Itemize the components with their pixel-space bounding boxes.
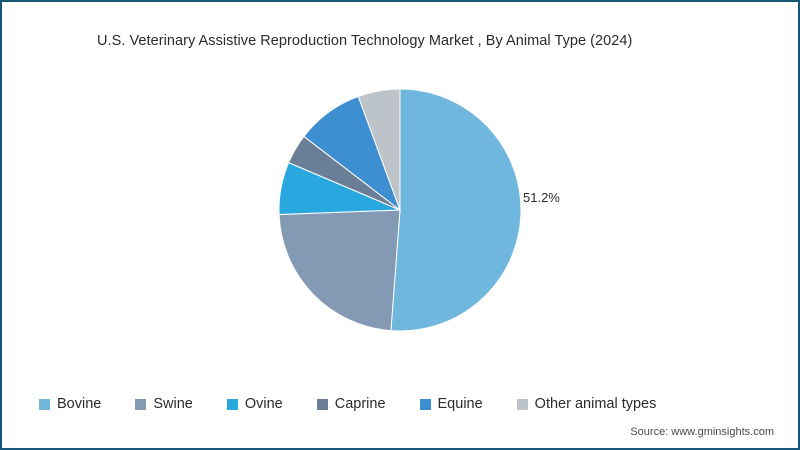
legend-item-label: Caprine [335,396,386,412]
page-title: U.S. Veterinary Assistive Reproduction T… [97,33,737,49]
chart-frame: U.S. Veterinary Assistive Reproduction T… [0,0,800,450]
legend-swatch-icon [39,399,50,410]
legend-item[interactable]: Ovine [227,396,283,412]
pie-slice[interactable] [391,89,521,331]
pie-chart-svg [279,89,521,331]
legend-swatch-icon [227,399,238,410]
legend-item-label: Bovine [57,396,101,412]
legend-item-label: Equine [438,396,483,412]
pie-slice-value-label: 51.2% [523,190,560,205]
legend-item-label: Swine [153,396,193,412]
source-attribution: Source: www.gminsights.com [630,426,774,438]
legend-swatch-icon [135,399,146,410]
legend-item[interactable]: Other animal types [517,396,657,412]
legend-item-label: Other animal types [535,396,657,412]
pie-slice[interactable] [279,210,400,331]
legend-item[interactable]: Bovine [39,396,101,412]
pie-chart [279,89,521,331]
legend-swatch-icon [420,399,431,410]
legend-item[interactable]: Caprine [317,396,386,412]
legend-item[interactable]: Swine [135,396,193,412]
legend-swatch-icon [317,399,328,410]
legend-swatch-icon [517,399,528,410]
pie-slice-group [279,89,521,331]
chart-legend: BovineSwineOvineCaprineEquineOther anima… [2,392,800,416]
legend-item[interactable]: Equine [420,396,483,412]
legend-item-label: Ovine [245,396,283,412]
